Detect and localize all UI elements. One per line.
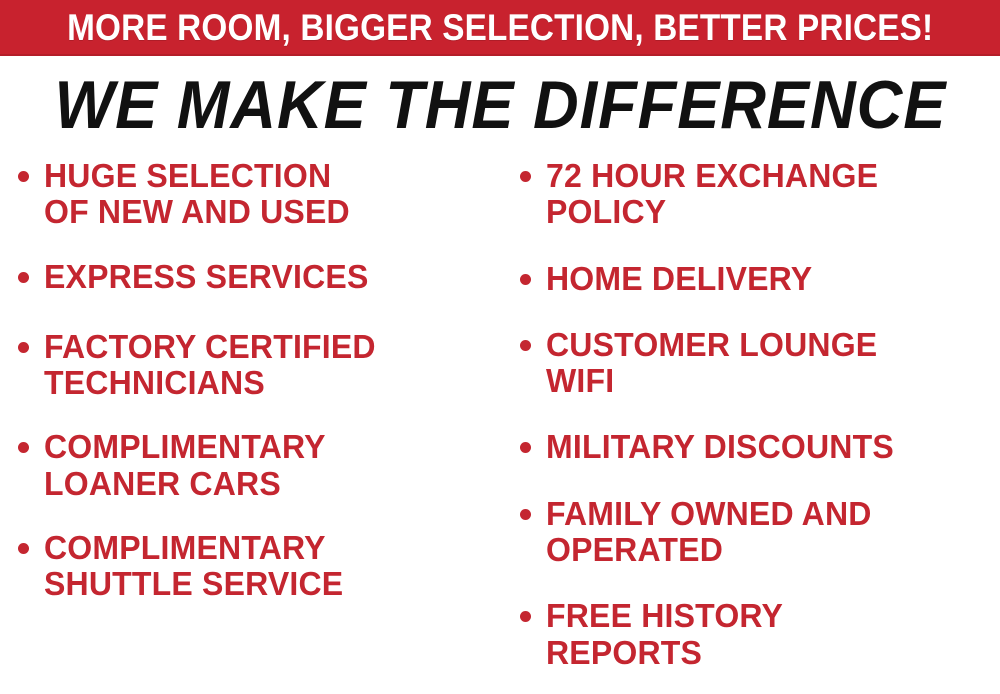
bullet-dot-icon <box>520 274 531 285</box>
page-title: WE MAKE THE DIFFERENCE <box>54 71 946 139</box>
list-item: 72 HOUR EXCHANGE POLICY <box>520 158 1000 231</box>
list-item: CUSTOMER LOUNGE WIFI <box>520 327 1000 400</box>
list-item-label: 72 HOUR EXCHANGE POLICY <box>546 158 986 231</box>
banner-headline-text: MORE ROOM, BIGGER SELECTION, BETTER PRIC… <box>67 9 933 46</box>
list-item-label: FACTORY CERTIFIED TECHNICIANS <box>44 329 482 402</box>
bullet-dot-icon <box>18 342 29 353</box>
list-item-label: MILITARY DISCOUNTS <box>546 429 986 465</box>
bullet-dot-icon <box>520 442 531 453</box>
list-item: MILITARY DISCOUNTS <box>520 429 1000 465</box>
list-item: FAMILY OWNED AND OPERATED <box>520 496 1000 569</box>
bullet-dot-icon <box>520 509 531 520</box>
benefits-column-right: 72 HOUR EXCHANGE POLICY HOME DELIVERY CU… <box>500 158 1000 694</box>
list-item: FREE HISTORY REPORTS <box>520 598 1000 671</box>
list-item-label: CUSTOMER LOUNGE WIFI <box>546 327 986 400</box>
list-item: EXPRESS SERVICES <box>18 259 496 295</box>
list-item-label: HUGE SELECTION OF NEW AND USED <box>44 158 482 231</box>
benefits-columns: HUGE SELECTION OF NEW AND USED EXPRESS S… <box>0 158 1000 678</box>
headline-container: WE MAKE THE DIFFERENCE <box>0 64 1000 146</box>
list-item: FACTORY CERTIFIED TECHNICIANS <box>18 329 496 402</box>
list-item-label: EXPRESS SERVICES <box>44 259 482 295</box>
list-item-label: FAMILY OWNED AND OPERATED <box>546 496 986 569</box>
bullet-dot-icon <box>520 340 531 351</box>
bullet-dot-icon <box>18 171 29 182</box>
bullet-dot-icon <box>520 611 531 622</box>
list-item-label: HOME DELIVERY <box>546 261 986 297</box>
benefits-column-left: HUGE SELECTION OF NEW AND USED EXPRESS S… <box>0 158 500 631</box>
advertisement-poster: MORE ROOM, BIGGER SELECTION, BETTER PRIC… <box>0 0 1000 694</box>
bullet-dot-icon <box>520 171 531 182</box>
bullet-dot-icon <box>18 442 29 453</box>
list-item-label: COMPLIMENTARY SHUTTLE SERVICE <box>44 530 482 603</box>
list-item: HOME DELIVERY <box>520 261 1000 297</box>
list-item: HUGE SELECTION OF NEW AND USED <box>18 158 496 231</box>
top-banner: MORE ROOM, BIGGER SELECTION, BETTER PRIC… <box>0 0 1000 56</box>
list-item: COMPLIMENTARY SHUTTLE SERVICE <box>18 530 496 603</box>
list-item: COMPLIMENTARY LOANER CARS <box>18 429 496 502</box>
list-item-label: FREE HISTORY REPORTS <box>546 598 986 671</box>
list-item-label: COMPLIMENTARY LOANER CARS <box>44 429 482 502</box>
bullet-dot-icon <box>18 543 29 554</box>
bullet-dot-icon <box>18 272 29 283</box>
